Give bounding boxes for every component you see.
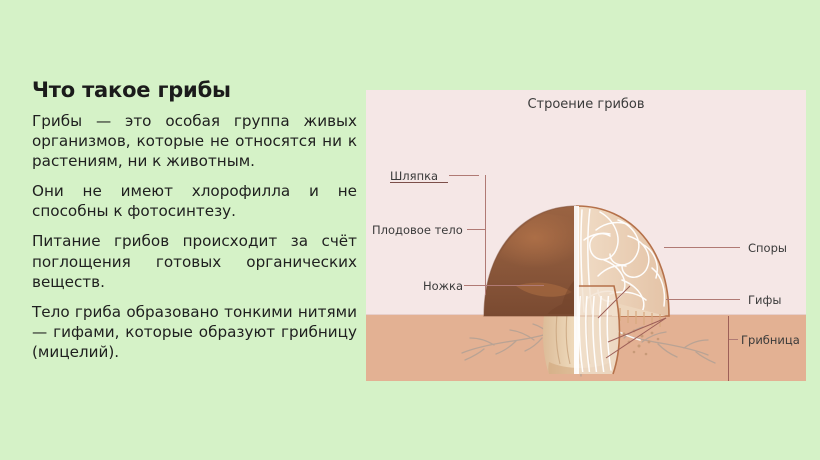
- leader-mycelium-horizontal: [729, 339, 738, 340]
- leader-fruiting-body-vertical: [485, 175, 486, 295]
- leader-mycelium-vertical: [728, 316, 729, 381]
- label-fruiting-body: Плодовое тело: [372, 223, 463, 237]
- body-paragraph-2: Они не имеют хлорофилла и не способны к …: [32, 181, 357, 221]
- leader-spores-horizontal: [664, 247, 740, 248]
- label-stem: Ножка: [423, 279, 463, 293]
- page-title: Что такое грибы: [32, 78, 357, 102]
- body-paragraph-3: Питание грибов происходит за счёт поглощ…: [32, 231, 357, 291]
- mushroom-diagram-panel: Строение грибов: [366, 90, 806, 381]
- label-mycelium: Грибница: [741, 333, 800, 347]
- leader-cap-horizontal: [449, 175, 479, 176]
- leader-hyphae-horizontal: [666, 299, 740, 300]
- leader-fruiting-body-horizontal: [467, 229, 486, 230]
- label-cap-underline: [390, 182, 448, 183]
- body-paragraph-4: Тело гриба образовано тонкими нитями — г…: [32, 302, 357, 362]
- slide-canvas: Что такое грибы Грибы — это особая групп…: [0, 0, 820, 460]
- label-spores: Споры: [748, 241, 787, 255]
- label-hyphae: Гифы: [748, 293, 781, 307]
- body-paragraph-1: Грибы — это особая группа живых организм…: [32, 111, 357, 171]
- text-column: Что такое грибы Грибы — это особая групп…: [32, 78, 357, 362]
- label-cap: Шляпка: [390, 169, 438, 183]
- leader-stem-horizontal: [464, 285, 544, 286]
